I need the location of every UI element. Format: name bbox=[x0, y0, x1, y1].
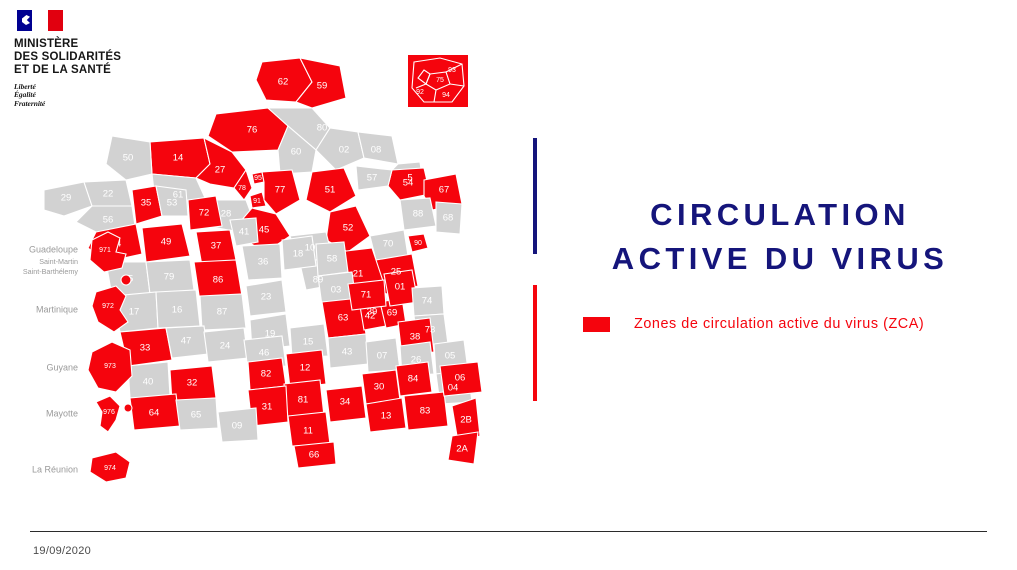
dep-49 bbox=[142, 224, 190, 262]
om-name-martinique: Martinique bbox=[36, 304, 78, 314]
dep-32 bbox=[170, 366, 216, 402]
dep-90 bbox=[408, 234, 428, 252]
legend-label-zca: Zones de circulation active du virus (ZC… bbox=[634, 316, 924, 332]
footer-date: 19/09/2020 bbox=[33, 545, 91, 557]
om-name-la-reunion: La Réunion bbox=[32, 464, 78, 474]
dep-14 bbox=[150, 138, 210, 178]
dep-77 bbox=[262, 170, 300, 214]
dep-58 bbox=[316, 242, 348, 276]
dep-2A bbox=[448, 432, 478, 464]
dep-18 bbox=[282, 236, 316, 270]
overseas-territories: 971 972 973 976 974 Guadeloupe Saint-Mar… bbox=[23, 232, 132, 482]
dep-71 bbox=[348, 280, 386, 310]
om-976-islet bbox=[124, 404, 132, 412]
dep-66 bbox=[294, 442, 336, 468]
dep-47 bbox=[166, 326, 208, 358]
dep-11 bbox=[288, 412, 330, 446]
dep-13 bbox=[366, 398, 406, 432]
dep-72 bbox=[188, 196, 222, 230]
dep-08 bbox=[358, 132, 398, 164]
page-title-line-1: CIRCULATION bbox=[560, 193, 1000, 237]
footer-divider bbox=[30, 531, 987, 532]
om-971-islet bbox=[121, 275, 131, 285]
dep-09 bbox=[218, 408, 258, 442]
accent-bar-red bbox=[533, 285, 537, 401]
dep-84 bbox=[396, 362, 432, 396]
dep-16 bbox=[156, 290, 200, 328]
om-name-guadeloupe: Guadeloupe bbox=[29, 244, 78, 254]
legend: Zones de circulation active du virus (ZC… bbox=[583, 316, 924, 332]
dep-68 bbox=[436, 202, 462, 234]
dep-79 bbox=[146, 260, 194, 294]
dep-50 bbox=[106, 136, 152, 180]
dep-65 bbox=[176, 398, 218, 430]
dep-40 bbox=[128, 362, 170, 398]
dep-74 bbox=[412, 286, 444, 316]
legend-swatch-zca bbox=[583, 317, 610, 332]
om-sub-saint-martin: Saint-Martin bbox=[39, 257, 78, 266]
dep-22 bbox=[84, 180, 132, 206]
dep-83 bbox=[404, 392, 448, 430]
dep-64 bbox=[130, 394, 180, 430]
dep-51 bbox=[306, 168, 356, 212]
accent-bar-blue bbox=[533, 138, 537, 254]
dep-82 bbox=[248, 358, 286, 390]
france-covid-map: 62 59 76 80 60 02 08 55 14 27 50 61 78 9… bbox=[0, 40, 500, 500]
dep-41 bbox=[230, 218, 258, 246]
om-974 bbox=[90, 452, 130, 482]
paris-inset: 75 92 93 94 bbox=[408, 55, 468, 107]
page-title: CIRCULATION ACTIVE DU VIRUS bbox=[560, 193, 1000, 281]
dep-43 bbox=[328, 334, 368, 368]
om-973 bbox=[88, 342, 132, 392]
dep-07 bbox=[366, 338, 400, 372]
page-title-line-2: ACTIVE DU VIRUS bbox=[560, 237, 1000, 281]
dep-87 bbox=[200, 294, 246, 330]
dep-24 bbox=[204, 328, 248, 362]
dep-57 bbox=[356, 166, 392, 190]
dep-53 bbox=[156, 186, 188, 216]
om-sub-saint-barthelemy: Saint-Barthélemy bbox=[23, 267, 79, 276]
map-svg: 62 59 76 80 60 02 08 55 14 27 50 61 78 9… bbox=[0, 40, 500, 500]
om-name-mayotte: Mayotte bbox=[46, 408, 78, 418]
dep-36 bbox=[242, 244, 282, 280]
dep-23 bbox=[246, 280, 286, 316]
om-name-guyane: Guyane bbox=[46, 362, 78, 372]
dep-88 bbox=[400, 198, 436, 230]
dep-29 bbox=[44, 182, 92, 216]
dep-06 bbox=[440, 362, 482, 396]
om-976 bbox=[96, 396, 120, 432]
french-flag-icon bbox=[17, 10, 63, 31]
dep-34 bbox=[326, 386, 366, 422]
